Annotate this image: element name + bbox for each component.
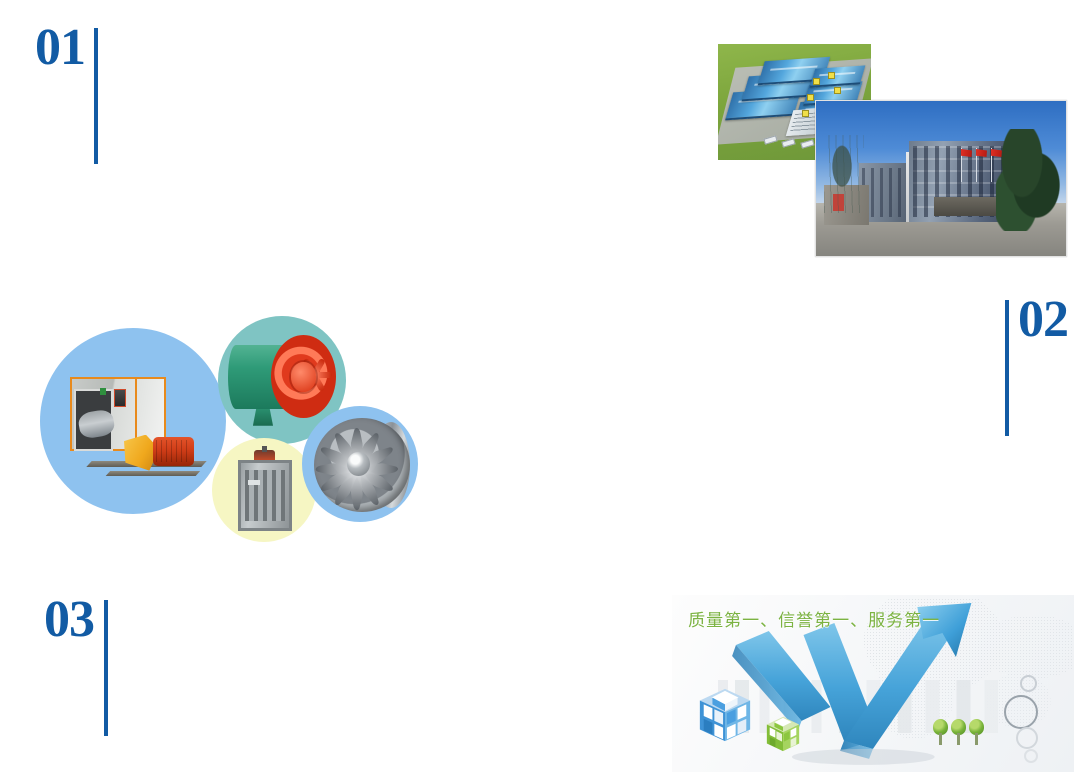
box-type-centrifugal-fan-image [60,365,220,485]
decorative-rings [994,675,1054,761]
section-accent-bar [104,600,108,736]
tree-cluster-left [824,135,864,213]
ring-circle [1024,749,1038,763]
aerial-marker-dot [813,78,820,85]
tree-icon [951,719,966,745]
damper-nameplate [248,480,260,485]
aerial-marker-dot [807,94,814,101]
metal-axial-fan-image [312,416,412,514]
tree-cluster-right [996,129,1061,231]
aerial-marker-dot [828,72,835,79]
section-number-label: 03 [44,597,94,643]
company-photo-group [700,35,1074,265]
fire-damper-image [234,450,296,534]
impeller-hub [291,362,316,392]
damper-actuator-handle [254,450,275,460]
fan-hub [347,452,370,476]
damper-blades [245,470,286,522]
fan-shroud [314,418,410,512]
section-number-label: 02 [1018,297,1068,343]
tree-icon [933,719,948,745]
section-marker-01: 01 [35,25,98,164]
control-box [114,389,125,407]
fan-base-rail [106,471,200,476]
section-number-label: 01 [35,25,85,71]
nameplate-sticker [100,388,106,395]
blue-cube-graphic [696,687,754,745]
section-accent-bar [1005,300,1009,436]
electric-motor [153,437,195,466]
section-accent-bar [94,28,98,164]
ring-circle [1020,675,1037,692]
aerial-marker-dot [834,87,841,94]
page-root: 01 [0,0,1074,772]
product-image-cluster [30,310,430,560]
section-marker-02: 02 [1005,297,1068,436]
aerial-marker-dot [802,110,809,117]
office-building-photo [815,100,1067,257]
section-marker-03: 03 [44,597,108,736]
tree-icon [969,719,984,745]
banner-slogan-text: 质量第一、信誉第一、服务第一 [688,606,940,631]
ring-circle [1004,695,1038,729]
ring-circle [1016,727,1038,749]
green-cube-graphic [764,715,802,753]
tree-group-graphic [933,715,993,745]
damper-frame [238,460,293,531]
growth-banner: 质量第一、信誉第一、服务第一 [672,595,1074,772]
